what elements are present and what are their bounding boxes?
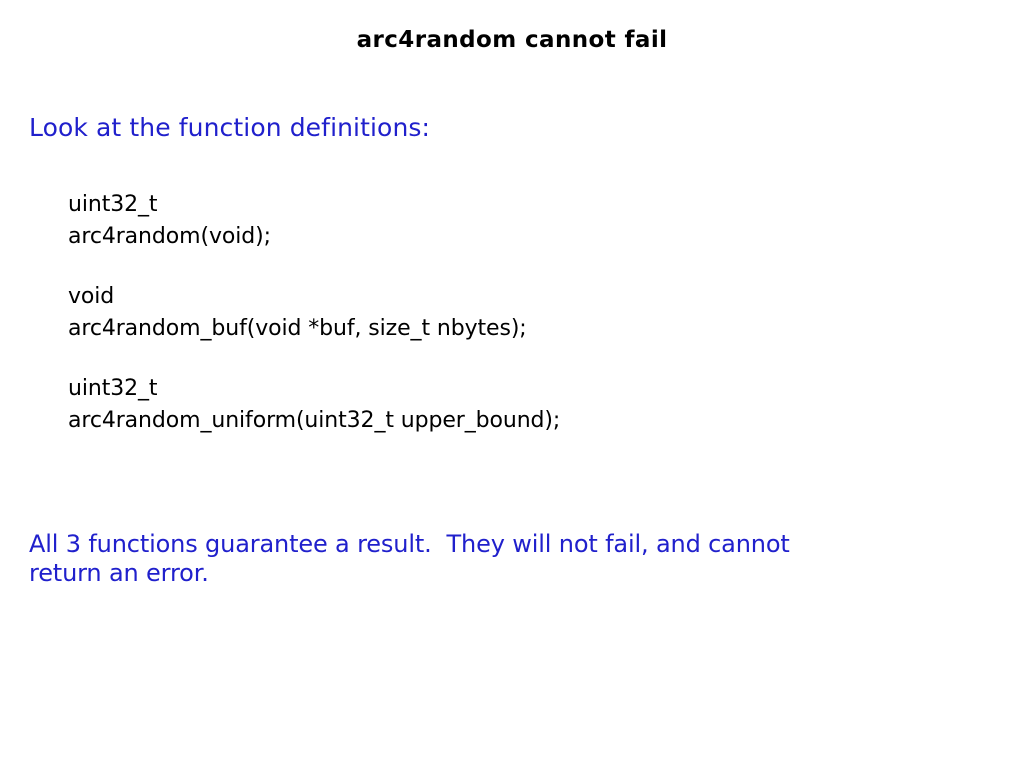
code-line: arc4random_buf(void *buf, size_t nbytes)… [68,313,968,345]
page-title: arc4random cannot fail [0,27,1024,53]
code-block-arc4random-uniform: uint32_t arc4random_uniform(uint32_t upp… [68,373,968,437]
closing-line-1: All 3 functions guarantee a result. They… [29,530,929,559]
code-line: arc4random_uniform(uint32_t upper_bound)… [68,405,968,437]
code-block-arc4random: uint32_t arc4random(void); [68,189,968,253]
closing-paragraph: All 3 functions guarantee a result. They… [29,530,929,588]
code-listing: uint32_t arc4random(void); void arc4rand… [68,189,968,437]
code-line: void [68,281,968,313]
closing-line-2: return an error. [29,559,929,588]
code-line: uint32_t [68,189,968,221]
code-line: uint32_t [68,373,968,405]
intro-text: Look at the function definitions: [29,113,430,142]
code-block-arc4random-buf: void arc4random_buf(void *buf, size_t nb… [68,281,968,345]
code-line: arc4random(void); [68,221,968,253]
slide-canvas: arc4random cannot fail Look at the funct… [0,0,1024,768]
